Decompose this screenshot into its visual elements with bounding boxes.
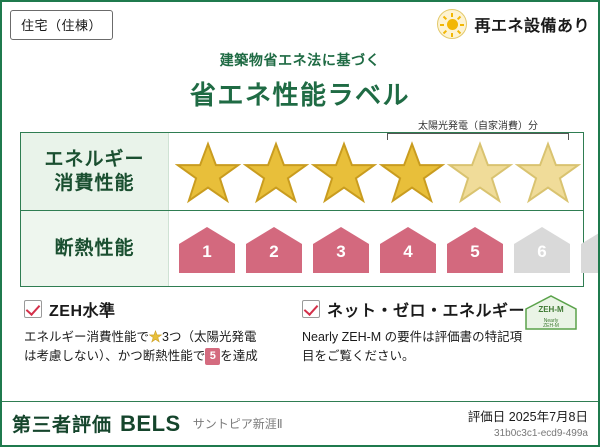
zeh-text-line2a: は考慮しない）、かつ断熱性能で [24,349,205,363]
insulation-level-number: 5 [443,242,507,262]
house-type-tag: 住宅（住棟） [10,10,113,40]
star-rating: 太陽光発電（自家消費）分 [175,139,577,206]
check-icon [24,300,42,318]
footer-right: 評価日 2025年7月8日 31b0c3c1-ecd9-499a [468,406,588,439]
bels-logo: BELS [120,411,181,437]
insulation-level-number: 3 [309,242,373,262]
criteria-zeh: ZEH水準 エネルギー消費性能で3つ（太陽光発電 は考慮しない）、かつ断熱性能で… [24,297,302,385]
star-item-solar [515,141,581,205]
insulation-level-number: 7 [577,242,600,262]
document-id: 31b0c3c1-ecd9-499a [468,428,588,439]
zeh-text-line2b: を達成 [220,349,258,363]
net-zero-line1: Nearly ZEH-M の要件は評価書の特記項 [302,330,522,344]
svg-text:ZEH-M: ZEH-M [543,323,559,329]
insulation-performance-row: 断熱性能 1 2 3 [21,211,583,286]
zeh-text-part2: 3つ（太陽光発電 [162,330,256,344]
solar-bracket-note: 太陽光発電（自家消費）分 [387,117,569,132]
star-icon [149,330,162,343]
zeh-level-box: 5 [205,348,220,365]
criteria-section: ZEH水準 エネルギー消費性能で3つ（太陽光発電 は考慮しない）、かつ断熱性能で… [24,297,580,385]
header: 住宅（住棟） 再エネ設備あり [2,2,598,48]
third-party-label: 第三者評価 [12,410,112,437]
title-subtitle: 建築物省エネ法に基づく [2,50,598,70]
evaluation-date: 評価日 2025年7月8日 [468,406,588,425]
star-item [379,141,445,205]
zeh-text-part1: エネルギー消費性能で [24,330,149,344]
sun-icon [437,9,467,39]
insulation-level-number: 2 [242,242,306,262]
insulation-level-1: 1 [175,224,239,276]
insulation-levels-area: 1 2 3 4 5 [169,211,583,286]
insulation-level-3: 3 [309,224,373,276]
evaluation-date-value: 2025年7月8日 [509,410,588,424]
criteria-net-zero-body: Nearly ZEH-M の要件は評価書の特記項 目をご覧ください。 [302,328,570,367]
svg-text:ZEH-M: ZEH-M [538,305,564,314]
title-main: 省エネ性能ラベル [2,75,598,112]
insulation-level-list: 1 2 3 4 5 [175,219,577,280]
check-icon [302,300,320,318]
energy-performance-label: 住宅（住棟） 再エネ設備あり 建築物省エネ法に基づく 省エネ性能ラベル [0,0,600,447]
evaluation-date-label: 評価日 [468,410,506,424]
insulation-level-4: 4 [376,224,440,276]
footer: 第三者評価 BELS サントピア新涯Ⅱ 評価日 2025年7月8日 31b0c3… [2,401,598,445]
criteria-zeh-title: ZEH水準 [49,297,116,321]
footer-left: 第三者評価 BELS サントピア新涯Ⅱ [2,402,283,445]
renewable-equipment-label: 再エネ設備あり [474,12,590,36]
energy-performance-label-cell: エネルギー 消費性能 [21,133,169,210]
star-item-solar [447,141,513,205]
renewable-equipment-tag: 再エネ設備あり [437,9,590,39]
insulation-level-number: 6 [510,242,574,262]
star-item [311,141,377,205]
zehm-badge-icon: ZEH-M Nearly ZEH-M [522,293,580,333]
energy-label-line2: 消費性能 [54,173,134,194]
performance-panel: エネルギー 消費性能 太陽光発電（自家消費）分 [20,132,584,287]
net-zero-line2: 目をご覧ください。 [302,349,415,363]
star-item [243,141,309,205]
insulation-level-5: 5 [443,224,507,276]
title-block: 建築物省エネ法に基づく 省エネ性能ラベル [2,50,598,112]
property-name: サントピア新涯Ⅱ [193,415,283,432]
criteria-zeh-body: エネルギー消費性能で3つ（太陽光発電 は考慮しない）、かつ断熱性能で5を達成 [24,328,292,367]
insulation-performance-label-cell: 断熱性能 [21,211,169,286]
solar-bracket: 太陽光発電（自家消費）分 [387,117,569,140]
energy-stars-area: 太陽光発電（自家消費）分 [169,133,583,210]
criteria-zeh-header: ZEH水準 [24,297,292,321]
insulation-level-number: 4 [376,242,440,262]
criteria-net-zero-title: ネット・ゼロ・エネルギー [327,297,525,321]
bracket-line-icon [387,133,569,140]
insulation-level-number: 1 [175,242,239,262]
insulation-level-7: 7 [577,224,600,276]
energy-performance-row: エネルギー 消費性能 太陽光発電（自家消費）分 [21,133,583,211]
energy-label-line1: エネルギー [44,149,144,170]
star-item [175,141,241,205]
criteria-net-zero: ネット・ゼロ・エネルギー ZEH-M Nearly ZEH-M Nearly Z… [302,297,580,385]
insulation-level-2: 2 [242,224,306,276]
insulation-level-6: 6 [510,224,574,276]
